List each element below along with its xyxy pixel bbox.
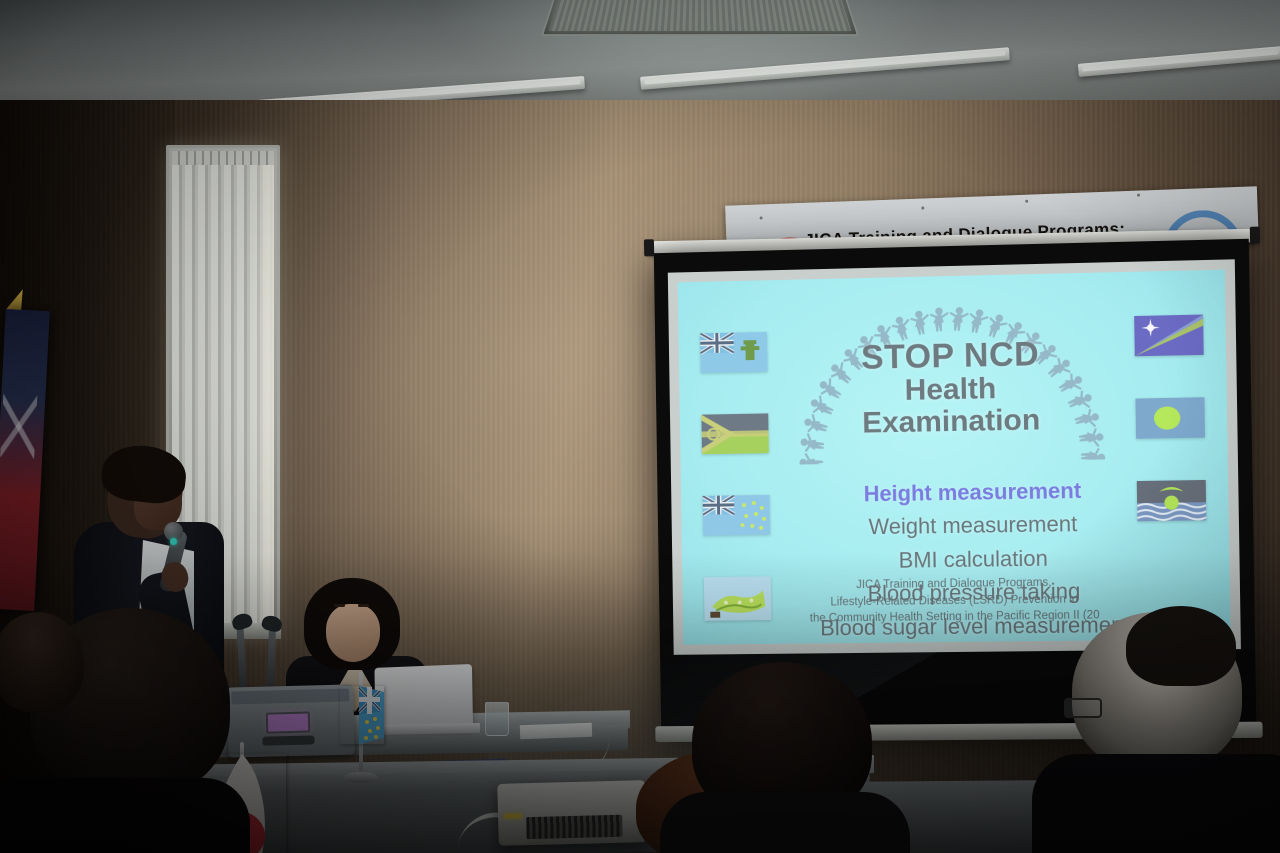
- desk-flag-tuvalu: [338, 672, 384, 782]
- microphone-led: [170, 538, 177, 545]
- stereo-handle: [231, 688, 349, 704]
- audience-hair-dark-top: [1126, 606, 1236, 686]
- operator-eye: [358, 604, 369, 607]
- audience-head: [0, 612, 84, 712]
- roller-cap-left: [644, 239, 654, 256]
- flag-tuvalu-icon: [703, 495, 770, 536]
- audience-member-center-right: [672, 662, 902, 853]
- slide: STOP NCD Health Examination Height measu…: [678, 270, 1231, 645]
- flag-fiji-icon: [700, 332, 767, 373]
- audience-member-left: [0, 612, 112, 742]
- operator-eye: [334, 604, 345, 607]
- laptop-base[interactable]: [368, 723, 480, 735]
- audience-shoulders: [1032, 754, 1280, 853]
- banner-pin: [760, 216, 763, 219]
- screen-surface: STOP NCD Health Examination Height measu…: [668, 259, 1241, 655]
- projector-indicator-lights: [504, 813, 522, 818]
- drinking-glass: [485, 702, 509, 736]
- banner-pin: [1025, 200, 1028, 203]
- audience-shoulders: [660, 792, 910, 853]
- banner-pin: [1137, 194, 1140, 197]
- laptop-lid: [374, 664, 473, 728]
- air-conditioning-vent: [541, 0, 859, 36]
- desk-flag-tuvalu-cloth: [340, 686, 384, 744]
- vent-grille: [549, 0, 852, 31]
- blind-headrail: [172, 151, 274, 165]
- operator-face: [326, 604, 380, 662]
- window-daylight: [252, 165, 274, 632]
- flag-kiribati-icon: [1137, 480, 1207, 521]
- desk-flag-base: [344, 772, 378, 783]
- eyeglasses-icon: [1064, 698, 1102, 718]
- banner-pin: [921, 206, 924, 209]
- flag-vanuatu-icon: [701, 413, 768, 454]
- stereo-display: [266, 712, 311, 734]
- roller-cap-right: [1250, 227, 1260, 244]
- flag-palau-icon: [1135, 397, 1205, 439]
- presentation-room-photo: JICA Training and Dialogue Programs: STO…: [0, 0, 1280, 853]
- audience-member-right: [1050, 612, 1280, 853]
- projector-vent: [526, 815, 623, 840]
- flag-marshall-icon: [1134, 315, 1204, 357]
- audience-shoulders: [0, 778, 250, 853]
